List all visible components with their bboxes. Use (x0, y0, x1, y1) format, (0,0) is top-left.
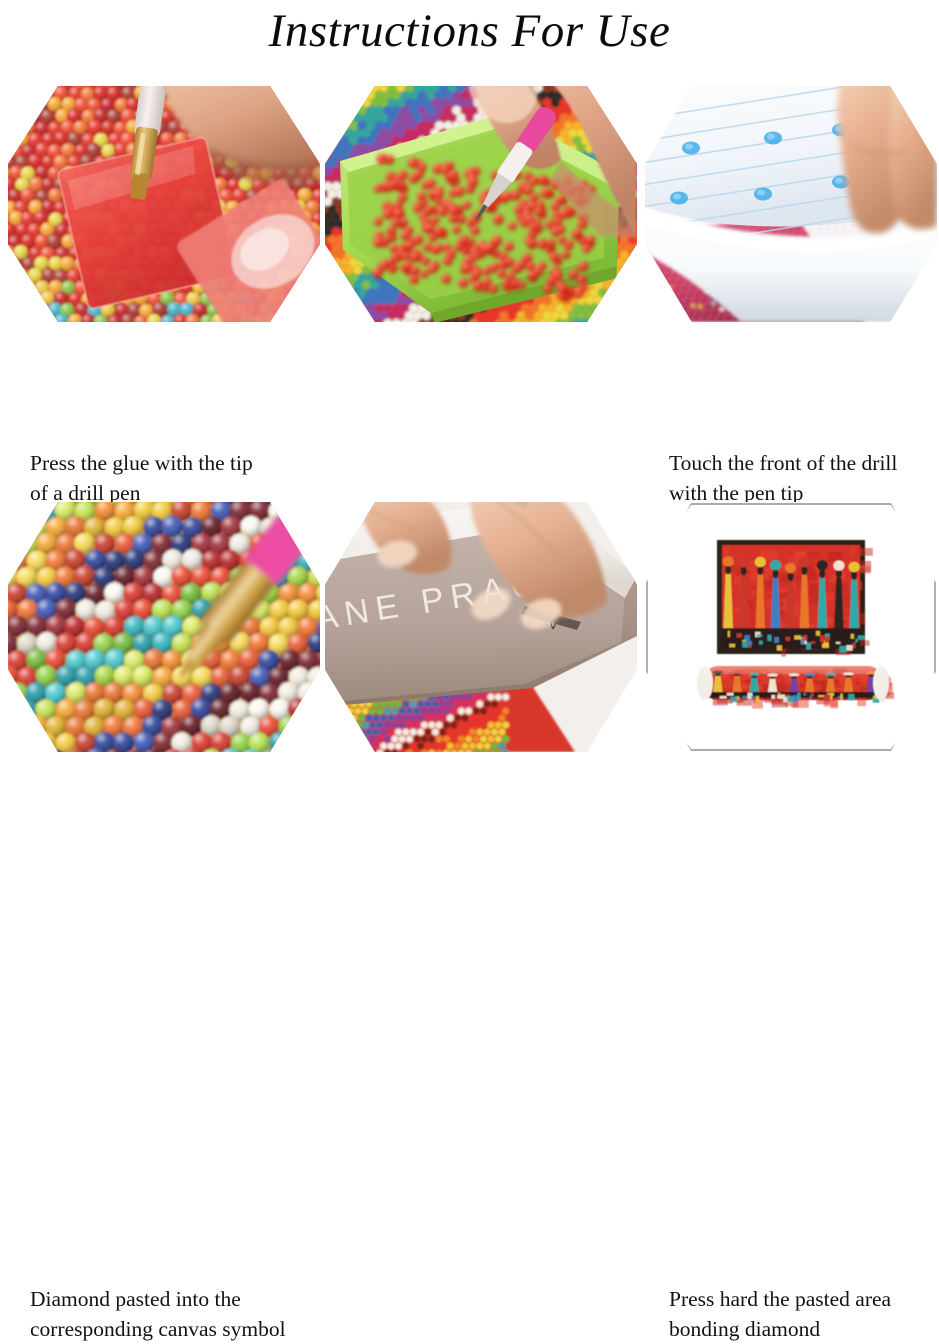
step-4-caption: Diamond pasted into the corresponding ca… (30, 1284, 330, 1344)
uncover-protective-film-photo (645, 86, 937, 322)
step-1-caption: Press the glue with the tip of a drill p… (30, 448, 330, 508)
step-3-panel: Uncover the Protective film (Paste how m… (645, 86, 937, 322)
press-book-panel: ANE PRACE 2019 So Press hard th (325, 502, 637, 752)
press-glue-with-drill-pen-photo (8, 86, 320, 322)
instruction-grid: Press the glue with the tip of a drill p… (0, 0, 939, 847)
step-2-caption: Touch the front of the drill with the pe… (669, 448, 939, 508)
step-1-panel: Press the glue with the tip of a drill p… (8, 86, 320, 322)
step-5-caption: Press hard the pasted area bonding diamo… (669, 1284, 939, 1344)
step-2-panel: Touch the front of the drill with the pe… (325, 86, 637, 322)
touch-front-of-drill-photo (325, 86, 637, 322)
press-pasted-area-with-book-photo: ANE PRACE 2019 So (325, 502, 637, 752)
finished-framed-and-rolled-canvas-photo (645, 502, 937, 752)
step-6-panel: After finishing:Unroll the canvas Or Int… (645, 502, 937, 752)
paste-diamond-on-canvas-symbol-photo (8, 502, 320, 752)
step-4-panel: Diamond pasted into the corresponding ca… (8, 502, 320, 752)
